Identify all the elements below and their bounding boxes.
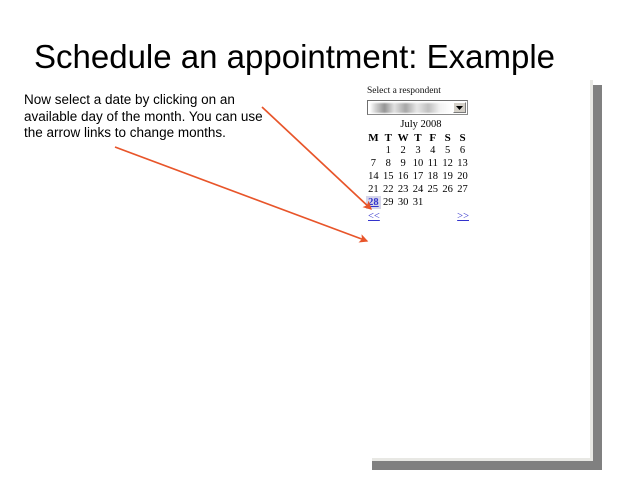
calendar-day-cell[interactable]: 17 [411,170,426,183]
calendar-week-row: 14 15 16 17 18 19 20 [366,170,470,183]
calendar-next-month-link[interactable]: >> [457,211,469,222]
calendar-day-cell[interactable]: 19 [440,170,455,183]
calendar-day-cell[interactable]: 5 [440,144,455,157]
calendar-week-row: 7 8 9 10 11 12 13 [366,157,470,170]
slide-shadow-right [593,85,602,470]
calendar-day-cell[interactable]: 2 [396,144,411,157]
arrow-to-month-links [115,147,367,241]
weekday-header: S [455,131,470,144]
weekday-header: W [396,131,411,144]
calendar-month-title: July 2008 [366,119,476,130]
calendar-day-cell[interactable]: 18 [425,170,440,183]
calendar-day-cell[interactable]: 8 [381,157,396,170]
calendar-day-cell[interactable]: 30 [396,196,411,209]
calendar-day-cell [455,196,470,209]
respondent-select[interactable] [367,100,468,115]
calendar-day-cell[interactable]: 26 [440,183,455,196]
calendar-widget: Select a respondent July 2008 M T W T F … [366,86,476,225]
calendar-weekday-row: M T W T F S S [366,131,470,144]
calendar-day-cell[interactable]: 3 [411,144,426,157]
calendar-day-cell[interactable]: 14 [366,170,381,183]
calendar-day-cell[interactable]: 29 [381,196,396,209]
calendar-day-cell[interactable]: 23 [396,183,411,196]
calendar-day-selected-link[interactable]: 28 [368,197,379,208]
calendar-week-row: 28 29 30 31 [366,196,470,209]
calendar-grid: M T W T F S S 1 2 3 4 5 6 7 8 9 [366,131,470,209]
calendar-day-cell[interactable]: 11 [425,157,440,170]
calendar-day-cell[interactable]: 10 [411,157,426,170]
calendar-day-cell[interactable]: 12 [440,157,455,170]
slide-shadow-bottom [372,461,593,470]
calendar-day-cell-selected[interactable]: 28 [366,196,381,209]
calendar-day-cell[interactable]: 15 [381,170,396,183]
calendar-day-cell[interactable]: 31 [411,196,426,209]
respondent-select-value [370,103,451,113]
calendar-day-cell[interactable]: 21 [366,183,381,196]
page-title: Schedule an appointment: Example [34,38,555,76]
calendar-day-cell[interactable]: 6 [455,144,470,157]
calendar-day-cell[interactable]: 9 [396,157,411,170]
calendar-day-cell[interactable]: 25 [425,183,440,196]
respondent-select-label: Select a respondent [367,86,476,96]
weekday-header: F [425,131,440,144]
weekday-header: T [381,131,396,144]
calendar-day-cell[interactable]: 20 [455,170,470,183]
calendar-day-cell [440,196,455,209]
calendar-day-cell [425,196,440,209]
instruction-text: Now select a date by clicking on an avai… [24,92,269,142]
calendar-day-cell[interactable]: 24 [411,183,426,196]
weekday-header: S [440,131,455,144]
arrow-to-date-grid [262,107,371,209]
calendar-day-cell[interactable]: 16 [396,170,411,183]
calendar-day-cell [366,144,381,157]
calendar-week-row: 21 22 23 24 25 26 27 [366,183,470,196]
calendar-day-cell[interactable]: 27 [455,183,470,196]
calendar-day-cell[interactable]: 4 [425,144,440,157]
weekday-header: T [411,131,426,144]
calendar-prev-month-link[interactable]: << [368,211,380,222]
calendar-week-row: 1 2 3 4 5 6 [366,144,470,157]
chevron-down-icon[interactable] [453,102,466,113]
calendar-day-cell[interactable]: 22 [381,183,396,196]
calendar-day-cell[interactable]: 13 [455,157,470,170]
calendar-day-cell[interactable]: 7 [366,157,381,170]
weekday-header: M [366,131,381,144]
calendar-day-cell[interactable]: 1 [381,144,396,157]
calendar-navigation: << >> [366,211,470,225]
